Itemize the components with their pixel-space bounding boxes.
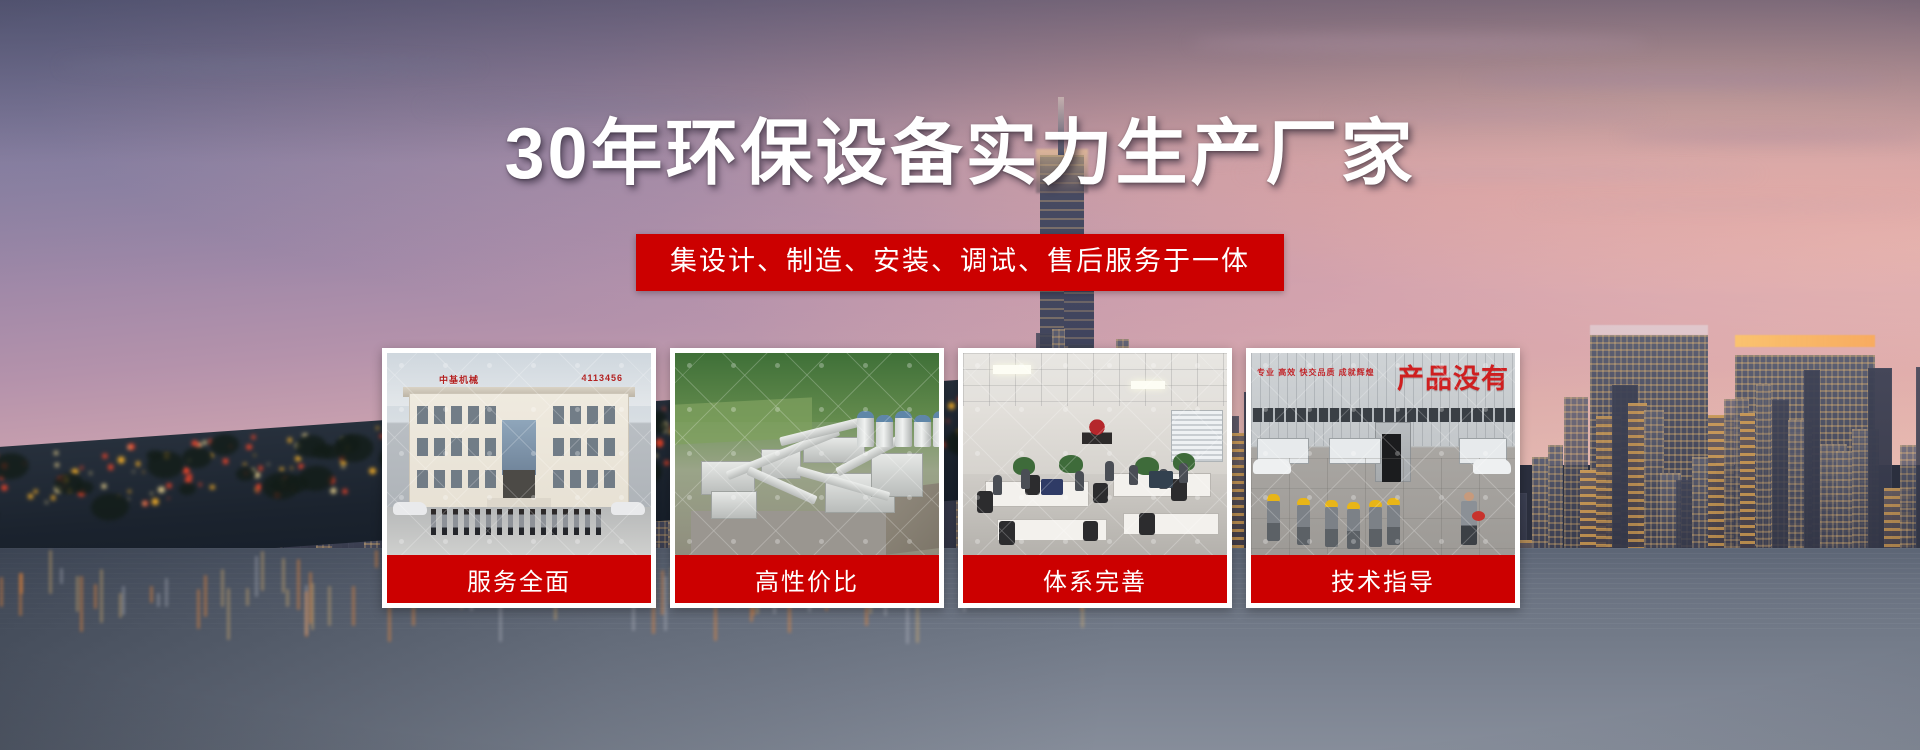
- card-caption: 高性价比: [675, 555, 939, 603]
- building-window: [468, 438, 479, 456]
- building-window: [417, 406, 428, 424]
- ceiling-light: [993, 365, 1031, 374]
- building-window: [485, 438, 496, 456]
- worker-uniform: [1369, 507, 1382, 547]
- building-window: [434, 470, 445, 488]
- card-photo: 中基机械 4113456: [387, 353, 651, 555]
- office-chair: [977, 491, 993, 513]
- card-caption: 服务全面: [387, 555, 651, 603]
- factory-worker: [1297, 498, 1310, 545]
- staff-member: [585, 509, 590, 535]
- feature-card[interactable]: 产品没有 专业 高效 快交品质 成就辉煌: [1246, 348, 1520, 608]
- staff-member: [574, 509, 579, 535]
- office-chair: [1139, 513, 1155, 535]
- card-caption: 体系完善: [963, 555, 1227, 603]
- building-window: [604, 438, 615, 456]
- building-window: [553, 470, 564, 488]
- building-window: [570, 470, 581, 488]
- building-window: [468, 470, 479, 488]
- building-company-sign: 中基机械: [439, 373, 479, 386]
- feature-card[interactable]: 高性价比: [670, 348, 944, 608]
- card-photo: [675, 353, 939, 555]
- office-worker: [1075, 471, 1084, 491]
- factory-slogan-small: 专业 高效 快交品质 成就辉煌: [1257, 367, 1375, 379]
- staff-member: [508, 509, 513, 535]
- office-worker: [993, 475, 1002, 495]
- banner-subtitle-bar: 集设计、制造、安装、调试、售后服务于一体: [636, 234, 1284, 291]
- parked-car: [611, 502, 645, 515]
- card-border-bottom: [387, 603, 651, 608]
- building-window: [485, 406, 496, 424]
- staff-member: [541, 509, 546, 535]
- building-window: [570, 406, 581, 424]
- factory-worker: [1267, 494, 1280, 541]
- office-worker: [1021, 469, 1030, 489]
- building-glass-atrium: [502, 420, 537, 475]
- card-border-bottom: [963, 603, 1227, 608]
- safety-helmet: [1369, 500, 1382, 507]
- building-window: [604, 470, 615, 488]
- factory-worker: [1369, 500, 1382, 547]
- building-phone-number: 4113456: [581, 373, 623, 383]
- building-window: [434, 406, 445, 424]
- office-desk: [1123, 513, 1219, 535]
- safety-helmet: [1297, 498, 1310, 505]
- building-window: [451, 470, 462, 488]
- staff-member: [552, 509, 557, 535]
- desk-monitor: [1041, 479, 1063, 495]
- staff-member: [596, 509, 601, 535]
- office-worker: [1129, 465, 1138, 485]
- card-caption: 技术指导: [1251, 555, 1515, 603]
- ceiling-light: [1131, 381, 1165, 389]
- feature-card[interactable]: 体系完善: [958, 348, 1232, 608]
- worker-uniform: [1387, 505, 1400, 545]
- safety-helmet: [1387, 498, 1400, 505]
- safety-helmet: [1347, 502, 1360, 509]
- photo-company-building: 中基机械 4113456: [387, 353, 651, 555]
- staff-member: [486, 509, 491, 535]
- building-window: [587, 438, 598, 456]
- worker-uniform: [1267, 501, 1280, 541]
- silo-cap: [876, 415, 893, 422]
- silo-cap: [857, 411, 874, 418]
- card-border-bottom: [1251, 603, 1515, 608]
- staff-member: [431, 509, 436, 535]
- card-photo: 产品没有 专业 高效 快交品质 成就辉煌: [1251, 353, 1515, 555]
- staff-member: [475, 509, 480, 535]
- office-worker: [1105, 461, 1114, 481]
- hero-banner: 30年环保设备实力生产厂家 集设计、制造、安装、调试、售后服务于一体 中基机械 …: [0, 0, 1920, 750]
- banner-headline: 30年环保设备实力生产厂家: [0, 118, 1920, 190]
- building-window: [570, 438, 581, 456]
- staff-member: [497, 509, 502, 535]
- parked-car: [393, 502, 427, 515]
- factory-worker: [1325, 500, 1338, 547]
- safety-helmet: [1325, 500, 1338, 507]
- silo-cap: [914, 415, 931, 422]
- red-helmet-held: [1472, 511, 1485, 521]
- card-border-bottom: [675, 603, 939, 608]
- office-chair: [999, 521, 1015, 545]
- parked-car: [1473, 459, 1511, 474]
- building-window: [553, 438, 564, 456]
- wall-logo: [1082, 418, 1112, 444]
- office-worker: [1179, 463, 1188, 483]
- feature-card[interactable]: 中基机械 4113456 服务全面: [382, 348, 656, 608]
- manager-head: [1464, 492, 1474, 501]
- worker-uniform: [1325, 507, 1338, 547]
- staff-member: [453, 509, 458, 535]
- worker-uniform: [1347, 509, 1360, 549]
- factory-worker: [1347, 502, 1360, 549]
- banner-content: 30年环保设备实力生产厂家 集设计、制造、安装、调试、售后服务于一体 中基机械 …: [0, 0, 1920, 750]
- staff-member: [563, 509, 568, 535]
- building-window: [604, 406, 615, 424]
- safety-helmet: [1267, 494, 1280, 501]
- office-chair: [1083, 521, 1098, 541]
- building-window: [417, 470, 428, 488]
- staff-member: [464, 509, 469, 535]
- silo-cap: [895, 411, 912, 418]
- building-window: [468, 406, 479, 424]
- building-window: [417, 438, 428, 456]
- factory-slogan-large: 产品没有: [1397, 357, 1509, 396]
- staff-member: [519, 509, 524, 535]
- photo-factory-workers: 产品没有 专业 高效 快交品质 成就辉煌: [1251, 353, 1515, 555]
- manager-suit: [1461, 501, 1477, 545]
- photo-office-interior: [963, 353, 1227, 555]
- worker-uniform: [1297, 505, 1310, 545]
- plant-building: [711, 491, 757, 519]
- building-window: [451, 438, 462, 456]
- factory-worker: [1387, 498, 1400, 545]
- card-photo: [963, 353, 1227, 555]
- factory-window-strip: [1251, 408, 1515, 422]
- building-porch: [487, 498, 550, 506]
- staff-member: [530, 509, 535, 535]
- desk-monitor: [1149, 471, 1173, 488]
- building-window: [587, 470, 598, 488]
- building-window: [485, 470, 496, 488]
- office-chair: [1093, 483, 1108, 503]
- photo-aerial-plant: [675, 353, 939, 555]
- office-ceiling: [963, 353, 1227, 406]
- building-window: [587, 406, 598, 424]
- parked-car: [1253, 459, 1291, 474]
- building-window: [553, 406, 564, 424]
- building-window: [434, 438, 445, 456]
- feature-card-row: 中基机械 4113456 服务全面: [382, 348, 1520, 608]
- staff-member: [442, 509, 447, 535]
- building-window: [451, 406, 462, 424]
